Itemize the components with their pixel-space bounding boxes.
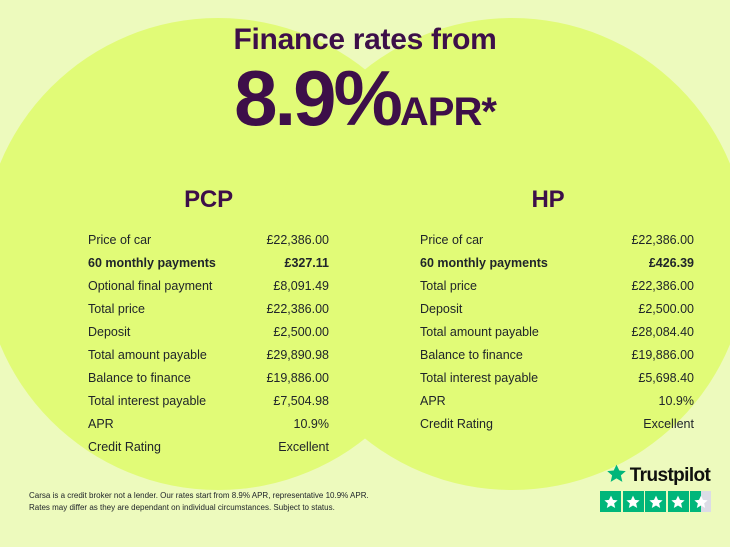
row-value: £19,886.00	[631, 344, 694, 367]
row-value: £2,500.00	[638, 298, 694, 321]
row-label: Total amount payable	[88, 344, 207, 367]
rating-star-icon	[623, 491, 644, 512]
trustpilot-star-icon	[606, 463, 627, 489]
table-row: Deposit £2,500.00	[420, 298, 694, 321]
pcp-table: PCP Price of car £22,386.00 60 monthly p…	[0, 186, 365, 459]
row-label: Optional final payment	[88, 275, 212, 298]
row-label: Total price	[420, 275, 477, 298]
row-value: £5,698.40	[638, 367, 694, 390]
pcp-table-title: PCP	[88, 186, 329, 214]
row-label: 60 monthly payments	[420, 252, 548, 275]
row-value: 10.9%	[294, 413, 329, 436]
row-label: Price of car	[420, 229, 483, 252]
table-row: APR 10.9%	[420, 390, 694, 413]
table-row: 60 monthly payments £327.11	[88, 252, 329, 275]
finance-rates-banner: Finance rates from 8.9%APR* PCP Price of…	[0, 0, 730, 547]
row-value: Excellent	[278, 436, 329, 459]
row-label: Balance to finance	[88, 367, 191, 390]
table-row: APR 10.9%	[88, 413, 329, 436]
row-label: APR	[88, 413, 114, 436]
table-row: Price of car £22,386.00	[88, 229, 329, 252]
hp-table-rows: Price of car £22,386.00 60 monthly payme…	[420, 229, 694, 436]
table-row: Optional final payment £8,091.49	[88, 275, 329, 298]
row-label: Total interest payable	[420, 367, 538, 390]
table-row: Balance to finance £19,886.00	[88, 367, 329, 390]
row-label: Price of car	[88, 229, 151, 252]
table-row: Price of car £22,386.00	[420, 229, 694, 252]
rating-star-half-icon	[690, 491, 711, 512]
table-row: Total price £22,386.00	[420, 275, 694, 298]
table-row: Total price £22,386.00	[88, 298, 329, 321]
table-row: Total interest payable £7,504.98	[88, 390, 329, 413]
table-row: Total interest payable £5,698.40	[420, 367, 694, 390]
row-label: Balance to finance	[420, 344, 523, 367]
row-value: £2,500.00	[273, 321, 329, 344]
table-row: Credit Rating Excellent	[88, 436, 329, 459]
row-value: £28,084.40	[631, 321, 694, 344]
row-label: Total price	[88, 298, 145, 321]
table-row: Total amount payable £29,890.98	[88, 344, 329, 367]
trustpilot-wordmark: Trustpilot	[630, 465, 711, 487]
disclaimer-text: Carsa is a credit broker not a lender. O…	[29, 490, 369, 514]
rating-star-icon	[645, 491, 666, 512]
table-row: Deposit £2,500.00	[88, 321, 329, 344]
trustpilot-logo: Trustpilot	[600, 464, 716, 488]
row-label: Total interest payable	[88, 390, 206, 413]
apr-rate-value: 8.9%	[234, 54, 400, 142]
disclaimer-line-2: Rates may differ as they are dependant o…	[29, 502, 369, 514]
page-title: Finance rates from	[0, 23, 730, 57]
row-value: £22,386.00	[631, 229, 694, 252]
table-row: Total amount payable £28,084.40	[420, 321, 694, 344]
apr-rate-display: 8.9%APR*	[0, 59, 730, 137]
row-label: Total amount payable	[420, 321, 539, 344]
row-value: Excellent	[643, 413, 694, 436]
row-value: £19,886.00	[266, 367, 329, 390]
apr-rate-suffix: APR*	[400, 90, 496, 134]
pcp-table-rows: Price of car £22,386.00 60 monthly payme…	[88, 229, 329, 459]
row-label: Deposit	[420, 298, 462, 321]
row-value: £22,386.00	[266, 229, 329, 252]
hp-table-title: HP	[402, 186, 694, 214]
row-value: 10.9%	[659, 390, 694, 413]
hp-table: HP Price of car £22,386.00 60 monthly pa…	[365, 186, 730, 459]
row-value: £22,386.00	[631, 275, 694, 298]
finance-comparison-tables: PCP Price of car £22,386.00 60 monthly p…	[0, 186, 730, 459]
row-value: £327.11	[285, 252, 330, 275]
row-value: £29,890.98	[266, 344, 329, 367]
row-value: £7,504.98	[273, 390, 329, 413]
rating-star-icon	[600, 491, 621, 512]
trustpilot-widget[interactable]: Trustpilot	[600, 464, 716, 512]
row-label: Deposit	[88, 321, 130, 344]
row-label: Credit Rating	[88, 436, 161, 459]
trustpilot-rating-stars	[600, 491, 716, 512]
row-label: APR	[420, 390, 446, 413]
table-row: Balance to finance £19,886.00	[420, 344, 694, 367]
row-value: £8,091.49	[273, 275, 329, 298]
rating-star-icon	[668, 491, 689, 512]
table-row: Credit Rating Excellent	[420, 413, 694, 436]
row-label: 60 monthly payments	[88, 252, 216, 275]
table-row: 60 monthly payments £426.39	[420, 252, 694, 275]
disclaimer-line-1: Carsa is a credit broker not a lender. O…	[29, 490, 369, 502]
row-label: Credit Rating	[420, 413, 493, 436]
row-value: £22,386.00	[266, 298, 329, 321]
row-value: £426.39	[649, 252, 694, 275]
